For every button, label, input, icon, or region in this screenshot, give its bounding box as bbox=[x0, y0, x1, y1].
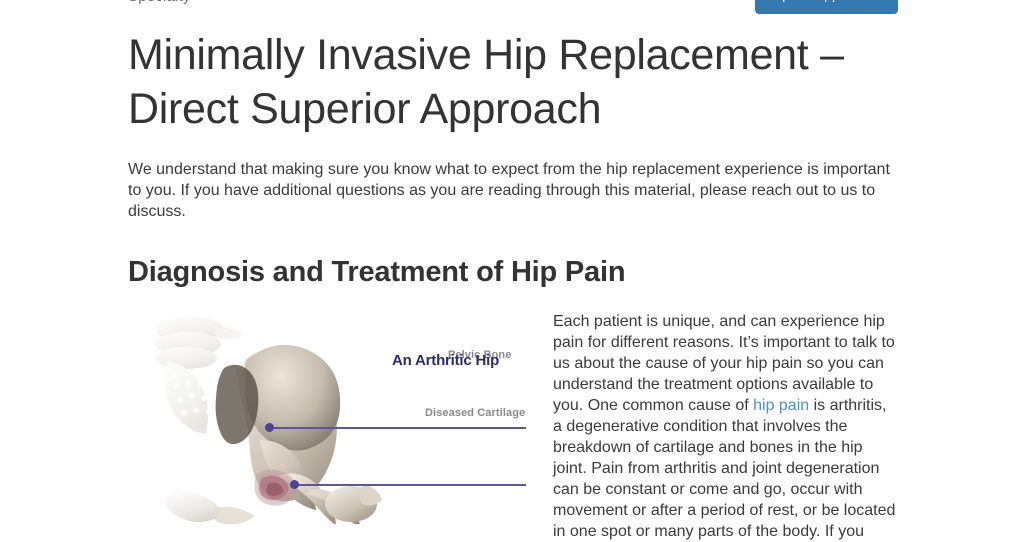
leader-dot-cartilage bbox=[290, 480, 299, 489]
leader-dot-pelvic bbox=[265, 423, 274, 432]
figure-text-row: Pelvic Bone Diseased Cartilage Each pati… bbox=[128, 308, 898, 542]
body-text-column: Each patient is unique, and can experien… bbox=[553, 308, 898, 542]
arthritic-hip-illustration: Pelvic Bone Diseased Cartilage bbox=[128, 308, 528, 524]
page-title: Minimally Invasive Hip Replacement – Dir… bbox=[128, 0, 898, 136]
figure-label-diseased-cartilage: Diseased Cartilage bbox=[425, 407, 525, 419]
leader-line-cartilage bbox=[294, 484, 526, 486]
body-paragraph: Each patient is unique, and can experien… bbox=[553, 311, 898, 542]
intro-paragraph: We understand that making sure you know … bbox=[128, 136, 898, 222]
hip-pain-link[interactable]: hip pain bbox=[753, 397, 809, 414]
figure-column: Pelvic Bone Diseased Cartilage bbox=[128, 308, 528, 524]
figure-title-arthritic-hip: An Arthritic Hip bbox=[392, 352, 499, 369]
article-content: Minimally Invasive Hip Replacement – Dir… bbox=[128, 0, 898, 542]
leader-line-pelvic bbox=[269, 427, 526, 429]
body-text-part2: is arthritis, a degenerative condition t… bbox=[553, 397, 895, 540]
page-root: Specialty Request Appointment Minimally … bbox=[0, 0, 1025, 500]
section-heading-diagnosis: Diagnosis and Treatment of Hip Pain bbox=[128, 222, 898, 290]
